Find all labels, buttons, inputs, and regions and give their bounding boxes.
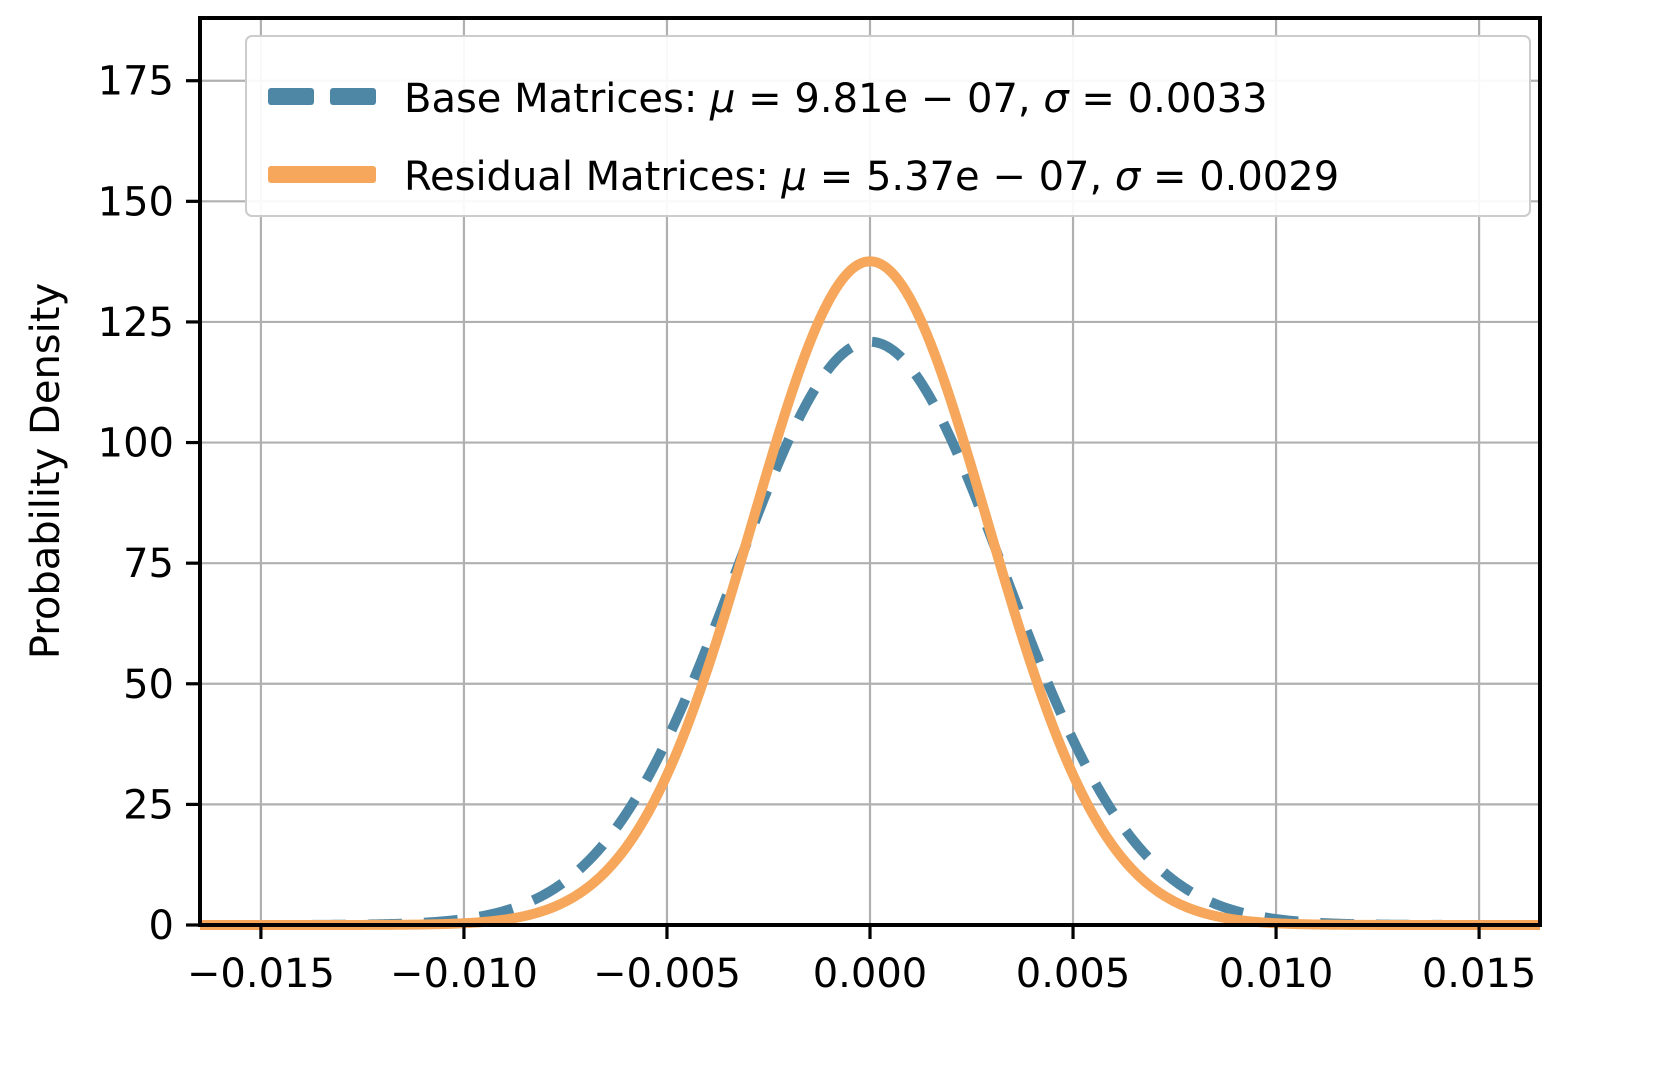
y-tick-label: 175: [98, 59, 174, 105]
y-tick-label: 100: [98, 421, 174, 467]
probability-density-plot: −0.015−0.010−0.0050.0000.0050.0100.015 0…: [0, 0, 1660, 1079]
legend-entry-residual[interactable]: Residual Matrices: μ = 5.37e − 07, σ = 0…: [268, 154, 1339, 200]
figure-container: −0.015−0.010−0.0050.0000.0050.0100.015 0…: [0, 0, 1660, 1079]
legend-swatch-residual: [268, 166, 376, 183]
x-axis-ticks: −0.015−0.010−0.0050.0000.0050.0100.015: [187, 925, 1536, 997]
legend-label-residual: Residual Matrices: μ = 5.37e − 07, σ = 0…: [404, 154, 1339, 200]
x-tick-label: 0.000: [813, 951, 928, 997]
legend-label-base: Base Matrices: μ = 9.81e − 07, σ = 0.003…: [404, 76, 1268, 122]
y-tick-label: 75: [123, 541, 174, 587]
x-tick-label: 0.010: [1219, 951, 1334, 997]
y-axis-ticks: 0255075100125150175: [98, 59, 200, 949]
y-tick-label: 150: [98, 179, 174, 225]
legend-entry-base[interactable]: Base Matrices: μ = 9.81e − 07, σ = 0.003…: [268, 76, 1268, 122]
y-axis-label: Probability Density: [23, 283, 69, 659]
legend[interactable]: Base Matrices: μ = 9.81e − 07, σ = 0.003…: [246, 36, 1530, 216]
y-tick-label: 0: [149, 903, 174, 949]
x-tick-label: −0.015: [187, 951, 335, 997]
x-tick-label: 0.015: [1422, 951, 1537, 997]
y-tick-label: 25: [123, 782, 174, 828]
x-tick-label: 0.005: [1016, 951, 1131, 997]
y-tick-label: 50: [123, 662, 174, 708]
x-tick-label: −0.005: [593, 951, 741, 997]
x-tick-label: −0.010: [390, 951, 538, 997]
y-tick-label: 125: [98, 300, 174, 346]
